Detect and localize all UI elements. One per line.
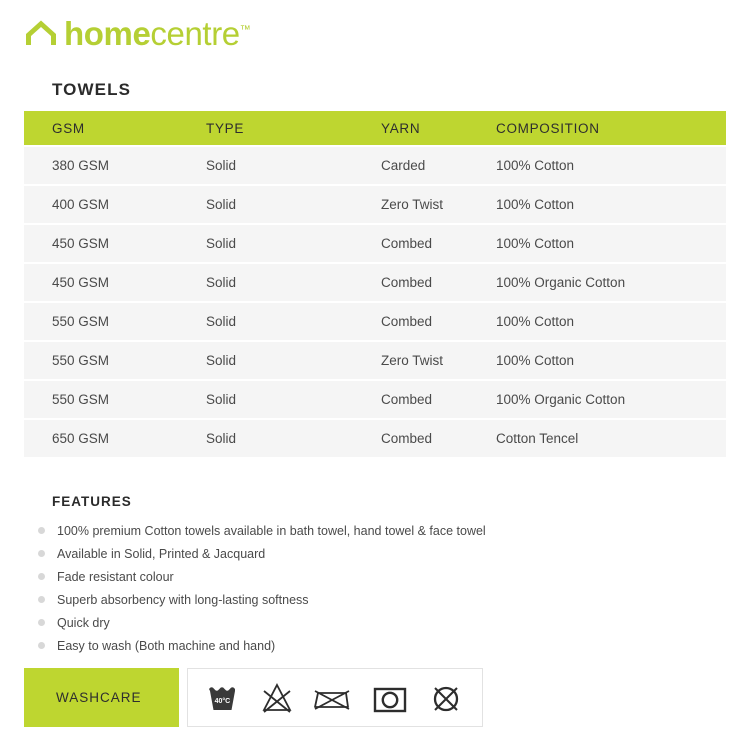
list-item: Easy to wash (Both machine and hand) bbox=[38, 634, 678, 657]
cell-composition: 100% Cotton bbox=[486, 303, 726, 340]
table-body: 380 GSM Solid Carded 100% Cotton 400 GSM… bbox=[24, 147, 726, 457]
bullet-icon bbox=[38, 619, 45, 626]
brand-name-bold: home bbox=[64, 15, 150, 52]
cell-type: Solid bbox=[196, 342, 371, 379]
cell-type: Solid bbox=[196, 264, 371, 301]
cell-type: Solid bbox=[196, 186, 371, 223]
cell-composition: 100% Cotton bbox=[486, 342, 726, 379]
feature-text: Fade resistant colour bbox=[57, 570, 174, 584]
cell-gsm: 550 GSM bbox=[24, 303, 196, 340]
list-item: 100% premium Cotton towels available in … bbox=[38, 519, 678, 542]
table-header: GSM TYPE YARN COMPOSITION bbox=[24, 111, 726, 145]
cell-yarn: Zero Twist bbox=[371, 186, 486, 223]
cell-yarn: Combed bbox=[371, 225, 486, 262]
cell-gsm: 450 GSM bbox=[24, 264, 196, 301]
do-not-dry-clean-icon bbox=[427, 681, 465, 715]
cell-composition: 100% Cotton bbox=[486, 225, 726, 262]
cell-composition: Cotton Tencel bbox=[486, 420, 726, 457]
cell-composition: 100% Cotton bbox=[486, 186, 726, 223]
cell-type: Solid bbox=[196, 147, 371, 184]
bullet-icon bbox=[38, 527, 45, 534]
svg-text:40°C: 40°C bbox=[215, 697, 231, 705]
cell-type: Solid bbox=[196, 381, 371, 418]
brand-name-light: centre bbox=[150, 15, 239, 52]
house-roof-icon bbox=[24, 18, 64, 49]
column-header-gsm: GSM bbox=[24, 111, 196, 145]
table-row: 550 GSM Solid Combed 100% Organic Cotton bbox=[24, 381, 726, 418]
bullet-icon bbox=[38, 596, 45, 603]
cell-yarn: Combed bbox=[371, 303, 486, 340]
feature-text: 100% premium Cotton towels available in … bbox=[57, 524, 486, 538]
cell-yarn: Combed bbox=[371, 381, 486, 418]
table-row: 450 GSM Solid Combed 100% Cotton bbox=[24, 225, 726, 262]
cell-gsm: 400 GSM bbox=[24, 186, 196, 223]
cell-gsm: 550 GSM bbox=[24, 342, 196, 379]
features-list: 100% premium Cotton towels available in … bbox=[38, 519, 678, 657]
cell-composition: 100% Organic Cotton bbox=[486, 381, 726, 418]
cell-gsm: 550 GSM bbox=[24, 381, 196, 418]
bullet-icon bbox=[38, 573, 45, 580]
table-row: 450 GSM Solid Combed 100% Organic Cotton bbox=[24, 264, 726, 301]
column-header-composition: COMPOSITION bbox=[486, 111, 726, 145]
table-row: 400 GSM Solid Zero Twist 100% Cotton bbox=[24, 186, 726, 223]
table-header-row: GSM TYPE YARN COMPOSITION bbox=[24, 111, 726, 145]
feature-text: Easy to wash (Both machine and hand) bbox=[57, 639, 275, 653]
cell-yarn: Combed bbox=[371, 420, 486, 457]
list-item: Quick dry bbox=[38, 611, 678, 634]
page-title: TOWELS bbox=[52, 80, 131, 100]
list-item: Superb absorbency with long-lasting soft… bbox=[38, 588, 678, 611]
washcare-icon-strip: 40°C bbox=[187, 668, 483, 727]
washcare-label: WASHCARE bbox=[24, 668, 179, 727]
table-row: 550 GSM Solid Combed 100% Cotton bbox=[24, 303, 726, 340]
table-row: 380 GSM Solid Carded 100% Cotton bbox=[24, 147, 726, 184]
feature-text: Available in Solid, Printed & Jacquard bbox=[57, 547, 265, 561]
tumble-dry-icon bbox=[368, 681, 412, 715]
list-item: Fade resistant colour bbox=[38, 565, 678, 588]
cell-yarn: Carded bbox=[371, 147, 486, 184]
cell-composition: 100% Organic Cotton bbox=[486, 264, 726, 301]
cell-gsm: 380 GSM bbox=[24, 147, 196, 184]
cell-type: Solid bbox=[196, 225, 371, 262]
cell-type: Solid bbox=[196, 420, 371, 457]
brand-wordmark: homecentre™ bbox=[64, 17, 251, 50]
do-not-iron-icon bbox=[310, 681, 354, 715]
trademark-symbol: ™ bbox=[240, 24, 251, 36]
specs-table: GSM TYPE YARN COMPOSITION 380 GSM Solid … bbox=[24, 109, 726, 459]
cell-yarn: Combed bbox=[371, 264, 486, 301]
cell-yarn: Zero Twist bbox=[371, 342, 486, 379]
bullet-icon bbox=[38, 550, 45, 557]
column-header-type: TYPE bbox=[196, 111, 371, 145]
table-row: 650 GSM Solid Combed Cotton Tencel bbox=[24, 420, 726, 457]
washcare-section: WASHCARE 40°C bbox=[24, 668, 483, 727]
product-spec-page: homecentre™ TOWELS GSM TYPE YARN COMPOSI… bbox=[0, 0, 750, 750]
feature-text: Quick dry bbox=[57, 616, 110, 630]
list-item: Available in Solid, Printed & Jacquard bbox=[38, 542, 678, 565]
do-not-bleach-icon bbox=[258, 681, 296, 715]
table-row: 550 GSM Solid Zero Twist 100% Cotton bbox=[24, 342, 726, 379]
cell-type: Solid bbox=[196, 303, 371, 340]
features-heading: FEATURES bbox=[52, 494, 132, 509]
wash-40c-icon: 40°C bbox=[205, 681, 243, 715]
cell-composition: 100% Cotton bbox=[486, 147, 726, 184]
bullet-icon bbox=[38, 642, 45, 649]
column-header-yarn: YARN bbox=[371, 111, 486, 145]
cell-gsm: 650 GSM bbox=[24, 420, 196, 457]
cell-gsm: 450 GSM bbox=[24, 225, 196, 262]
feature-text: Superb absorbency with long-lasting soft… bbox=[57, 593, 309, 607]
brand-logo: homecentre™ bbox=[24, 16, 251, 49]
